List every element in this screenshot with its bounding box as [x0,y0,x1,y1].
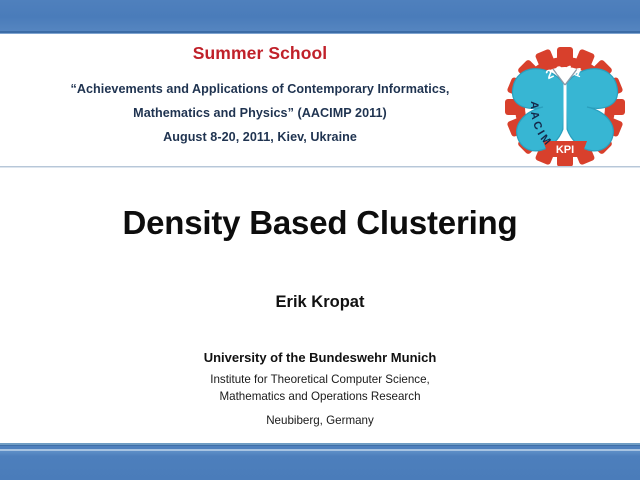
conference-date-location: August 8-20, 2011, Kiev, Ukraine [0,125,520,149]
affiliation-location: Neubiberg, Germany [0,412,640,429]
affiliation-organization: University of the Bundeswehr Munich [0,348,640,367]
event-name: Summer School [0,42,520,64]
bottom-accent-band-glow [0,449,640,451]
presentation-title-slide: Summer School “Achievements and Applicat… [0,0,640,480]
top-accent-band-light-rule [0,33,640,34]
header-divider-soft [0,167,640,168]
affiliation-department-line-1: Institute for Theoretical Computer Scien… [0,371,640,388]
logo-institution-text: KPI [556,144,574,156]
affiliation-block: University of the Bundeswehr Munich Inst… [0,348,640,429]
conference-header: Summer School “Achievements and Applicat… [0,42,520,149]
bottom-accent-band-hairline [0,445,640,446]
bottom-accent-band [0,446,640,480]
aacimp-logo: KPI 2011 AACIMP [503,45,627,169]
conference-title-line-1: “Achievements and Applications of Contem… [0,77,520,101]
author-name: Erik Kropat [0,291,640,313]
top-accent-band [0,0,640,31]
affiliation-department-line-2: Mathematics and Operations Research [0,388,640,405]
conference-title-line-2: Mathematics and Physics” (AACIMP 2011) [0,101,520,125]
page-title: Density Based Clustering [0,203,640,243]
